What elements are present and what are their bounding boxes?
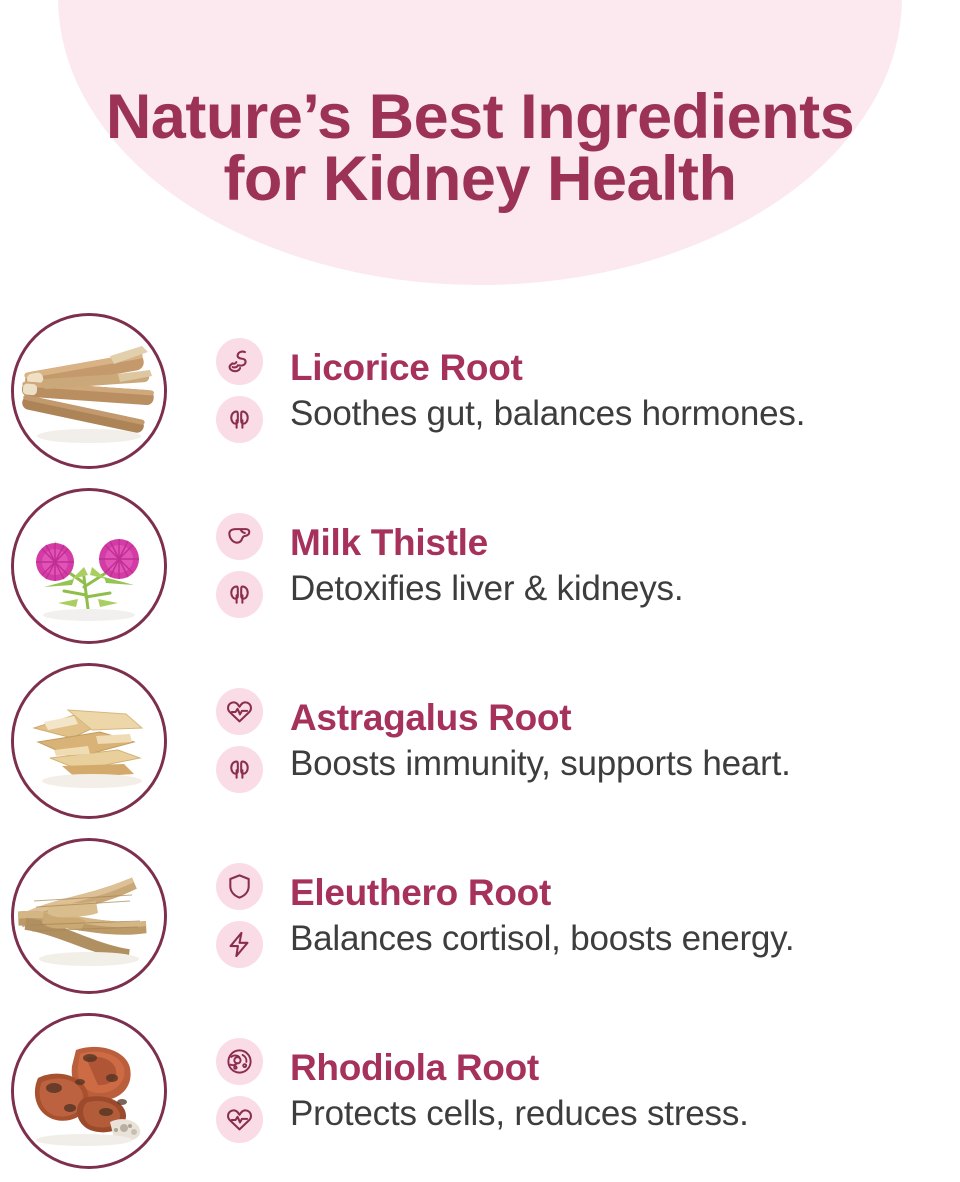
ingredient-name: Astragalus Root — [290, 695, 952, 740]
ingredient-icons — [204, 863, 274, 968]
intestine-icon — [216, 338, 263, 385]
ingredient-icons — [204, 338, 274, 443]
ingredient-description: Detoxifies liver & kidneys. — [290, 565, 952, 612]
ingredient-text: Milk Thistle Detoxifies liver & kidneys. — [290, 520, 960, 612]
ingredient-text: Licorice Root Soothes gut, balances horm… — [290, 345, 960, 437]
kidneys-icon — [216, 746, 263, 793]
licorice-root-sticks-image — [14, 316, 164, 466]
ingredient-icons — [204, 513, 274, 618]
ingredient-name: Rhodiola Root — [290, 1045, 952, 1090]
kidneys-icon — [216, 571, 263, 618]
eleuthero-root-pieces-image — [14, 841, 164, 991]
liver-icon — [216, 513, 263, 560]
ingredient-photo-licorice-root — [11, 313, 167, 469]
heart-pulse-icon — [216, 1096, 263, 1143]
ingredient-text: Astragalus Root Boosts immunity, support… — [290, 695, 960, 787]
astragalus-root-slices-image — [14, 666, 164, 816]
ingredient-name: Milk Thistle — [290, 520, 952, 565]
cell-icon — [216, 1038, 263, 1085]
ingredient-icons — [204, 1038, 274, 1143]
ingredient-row: Astragalus Root Boosts immunity, support… — [0, 653, 960, 828]
page-title: Nature’s Best Ingredients for Kidney Hea… — [0, 86, 960, 210]
ingredient-row: Eleuthero Root Balances cortisol, boosts… — [0, 828, 960, 1003]
page-title-line-2: for Kidney Health — [0, 148, 960, 210]
ingredient-list: Licorice Root Soothes gut, balances horm… — [0, 303, 960, 1178]
rhodiola-root-chunks-image — [14, 1016, 164, 1166]
shield-icon — [216, 863, 263, 910]
ingredient-photo-rhodiola-root — [11, 1013, 167, 1169]
ingredient-name: Eleuthero Root — [290, 870, 952, 915]
milk-thistle-flowers-image — [14, 491, 164, 641]
ingredient-row: Licorice Root Soothes gut, balances horm… — [0, 303, 960, 478]
ingredient-text: Eleuthero Root Balances cortisol, boosts… — [290, 870, 960, 962]
ingredient-row: Rhodiola Root Protects cells, reduces st… — [0, 1003, 960, 1178]
ingredient-name: Licorice Root — [290, 345, 952, 390]
ingredient-description: Boosts immunity, supports heart. — [290, 740, 952, 787]
ingredient-icons — [204, 688, 274, 793]
ingredient-description: Protects cells, reduces stress. — [290, 1090, 952, 1137]
ingredient-photo-eleuthero-root — [11, 838, 167, 994]
ingredient-photo-milk-thistle — [11, 488, 167, 644]
kidneys-icon — [216, 396, 263, 443]
ingredient-text: Rhodiola Root Protects cells, reduces st… — [290, 1045, 960, 1137]
ingredient-photo-astragalus-root — [11, 663, 167, 819]
heart-pulse-icon — [216, 688, 263, 735]
ingredient-description: Balances cortisol, boosts energy. — [290, 915, 952, 962]
ingredient-row: Milk Thistle Detoxifies liver & kidneys. — [0, 478, 960, 653]
page-title-line-1: Nature’s Best Ingredients — [0, 86, 960, 148]
lightning-bolt-icon — [216, 921, 263, 968]
ingredient-description: Soothes gut, balances hormones. — [290, 390, 952, 437]
